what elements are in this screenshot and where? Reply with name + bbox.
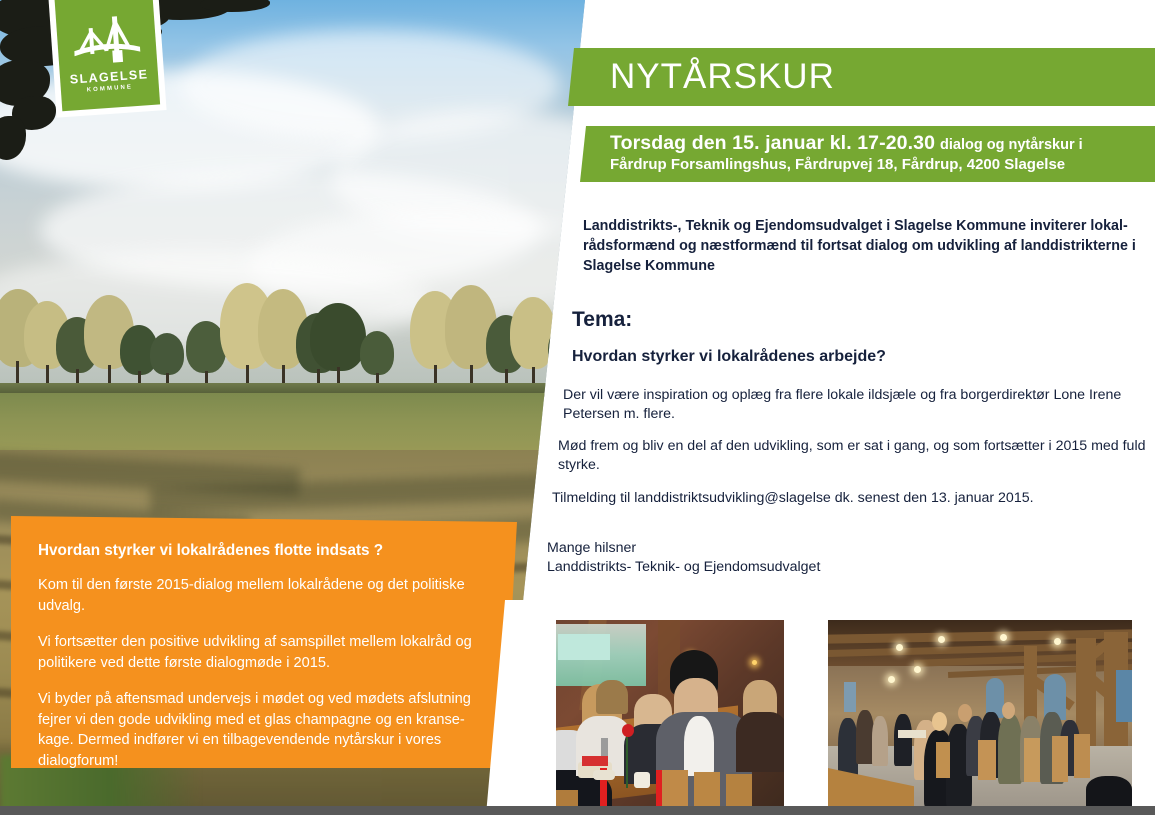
callout-paragraph-2: Vi fortsætter den positive udvikling af … (38, 632, 487, 673)
tree-line (0, 255, 600, 395)
event-venue: Fårdrup Forsamlingshus, Fårdrupvej 18, F… (610, 156, 1065, 173)
tema-label: Tema: (572, 308, 632, 332)
page-title: NYTÅRSKUR (610, 57, 835, 97)
signoff-sender: Landdistrikts- Teknik- og Ejendomsudvalg… (547, 558, 1027, 577)
callout-heading: Hvordan styrker vi lokalrådenes flotte i… (38, 542, 487, 560)
orange-callout-box: Hvordan styrker vi lokalrådenes flotte i… (11, 516, 517, 768)
paragraph-invitation: Mød frem og bliv en del af den udvikling… (558, 437, 1148, 475)
venue-hall-photo (828, 620, 1132, 808)
field-grass (0, 393, 600, 455)
logo-name: SLAGELSE (69, 68, 148, 86)
bottom-strip (0, 806, 1155, 815)
event-date: Torsdag den 15. januar kl. 17-20.30 (610, 132, 935, 154)
title-banner: NYTÅRSKUR (568, 48, 1155, 106)
date-banner: Torsdag den 15. januar kl. 17-20.30dialo… (580, 126, 1155, 182)
poster-root: SLAGELSE KOMMUNE NYTÅRSKUR Torsdag den 1… (0, 0, 1155, 815)
paragraph-signup: Tilmelding til landdistriktsudvikling@sl… (552, 489, 1142, 508)
event-date-suffix: dialog og nytårskur i (940, 137, 1083, 153)
signoff: Mange hilsner Landdistrikts- Teknik- og … (547, 539, 1027, 577)
slagelse-kommune-logo: SLAGELSE KOMMUNE (54, 0, 160, 111)
tema-question: Hvordan styrker vi lokalrådenes arbejde? (572, 348, 886, 366)
signoff-greeting: Mange hilsner (547, 539, 1027, 558)
callout-paragraph-3: Vi byder på aftensmad undervejs i mødet … (38, 689, 487, 771)
dinner-event-photo (538, 620, 784, 808)
logo-subtitle: KOMMUNE (87, 84, 134, 93)
paragraph-inspiration: Der vil være inspiration og oplæg fra fl… (563, 386, 1138, 424)
callout-paragraph-1: Kom til den første 2015-dialog mellem lo… (38, 575, 487, 616)
bridge-icon (72, 10, 141, 66)
intro-paragraph: Landdistrikts-, Teknik og Ejendomsudvalg… (583, 216, 1143, 276)
